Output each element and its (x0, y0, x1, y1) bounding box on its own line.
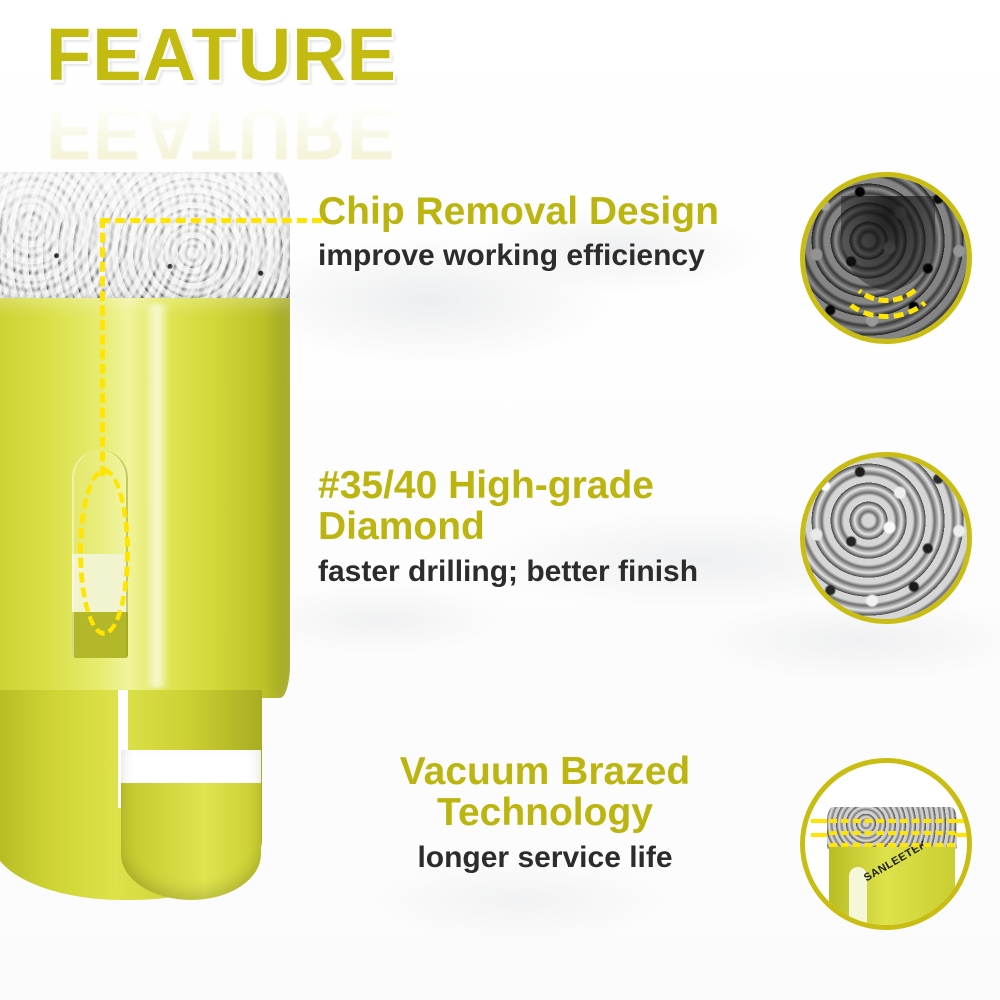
inset-circle-vacuum-brazed: SANLEETEK (800, 758, 972, 930)
feature-2-heading-line-2: Diamond (318, 507, 758, 548)
braze-line-3 (829, 843, 955, 847)
page-title: FEATURE (46, 18, 466, 92)
braze-line-2 (829, 831, 955, 835)
feature-3-heading-line-2: Technology (330, 793, 760, 834)
diamond-grit-surface-icon (800, 452, 972, 624)
product-image-drill-bit (0, 150, 296, 940)
diamond-segment-band (0, 172, 290, 307)
shank-cutout (121, 750, 261, 900)
infographic-canvas: FEATURE FEATURE Chip Removal Design impr… (0, 0, 1000, 1000)
braze-arrow-right-2 (955, 833, 971, 837)
callout-line-horizontal-chip-removal (100, 218, 322, 223)
inset-circle-high-grade-diamond (800, 452, 972, 624)
callout-line-vertical-to-slot (100, 218, 105, 476)
callout-oval-highlight-slot (78, 468, 130, 636)
feature-block-vacuum-brazed: Vacuum Brazed Technology longer service … (330, 752, 760, 874)
drill-bit-barrel (0, 298, 290, 698)
feature-1-subtext: improve working efficiency (318, 239, 778, 272)
feature-1-heading: Chip Removal Design (318, 192, 778, 233)
braze-arrow-left-1 (811, 819, 827, 823)
feature-2-heading-line-1: #35/40 High-grade (318, 466, 758, 507)
inset-circle-chip-removal (800, 172, 972, 344)
feature-block-chip-removal: Chip Removal Design improve working effi… (318, 192, 778, 272)
page-title-block: FEATURE FEATURE (46, 18, 466, 138)
braze-arrow-left-2 (811, 833, 827, 837)
feature-3-heading-line-1: Vacuum Brazed (330, 752, 760, 793)
braze-arrow-right-1 (955, 819, 971, 823)
feature-3-subtext: longer service life (330, 841, 760, 874)
feature-block-high-grade-diamond: #35/40 High-grade Diamond faster drillin… (318, 466, 758, 588)
feature-2-subtext: faster drilling; better finish (318, 555, 758, 588)
braze-line-1 (829, 819, 955, 823)
